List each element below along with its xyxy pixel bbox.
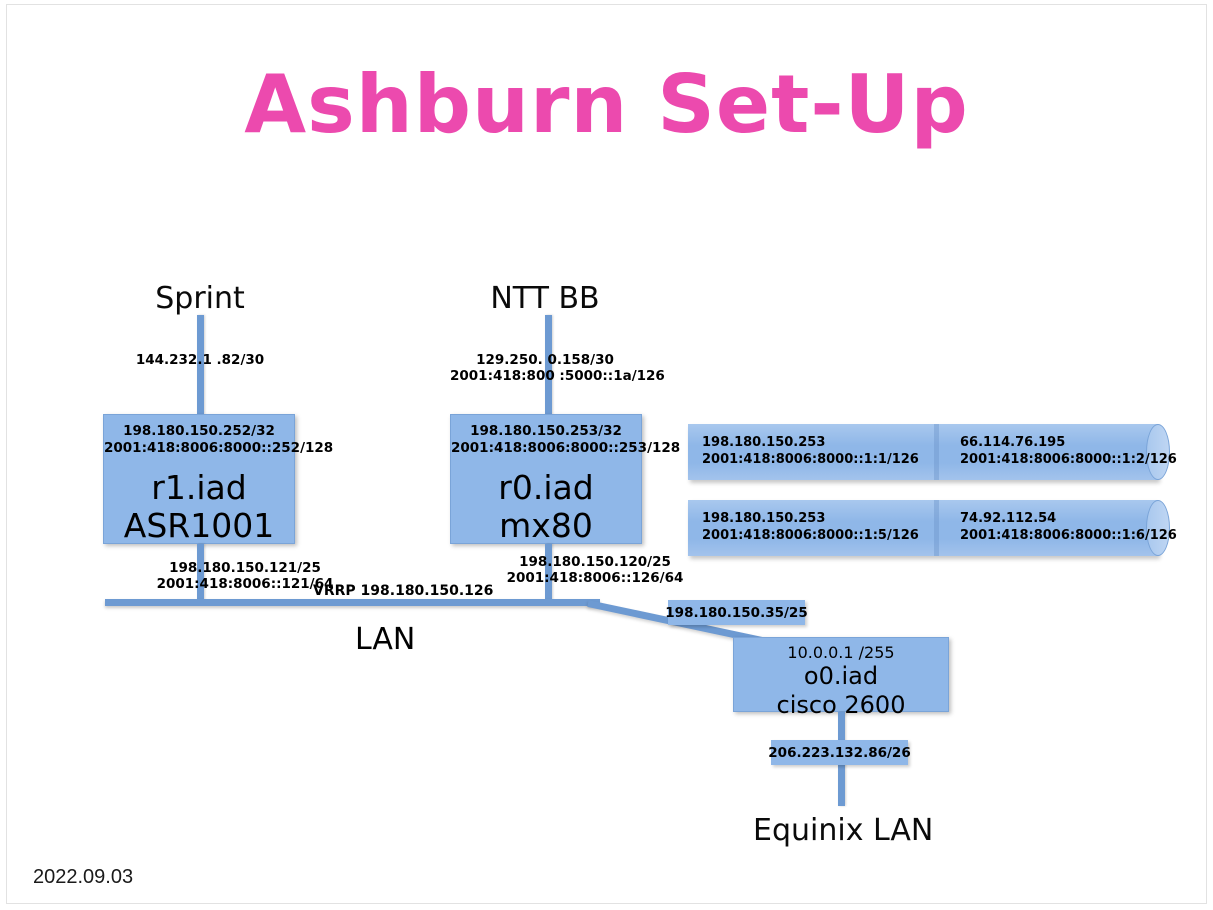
r0-loopback-v4: 198.180.150.253/32 [451,423,641,440]
upstream-label-sprint: Sprint [105,281,295,316]
peering-2-remote-v6: 2001:418:8006:8000::1:6/126 [960,527,1177,544]
upstream-label-ntt: NTT BB [450,281,640,316]
lan-bus [105,599,600,606]
peering-link-1[interactable]: 198.180.150.253 2001:418:8006:8000::1:1/… [688,424,1158,480]
ip-label-ntt-v6: 2001:418:800 :5000::1a/126 [450,368,640,384]
r1-loopback-v6: 2001:418:8006:8000::252/128 [104,440,294,457]
peering-1-local-v4: 198.180.150.253 [702,434,919,451]
peering-2-local-v4: 198.180.150.253 [702,510,919,527]
peering-link-1-divider [934,424,939,480]
lan-label: LAN [355,622,415,657]
router-node-o0-iad[interactable]: 10.0.0.1 /255 o0.iad cisco 2600 [733,637,949,712]
ip-label-sprint-v4: 144.232.1 .82/30 [105,352,295,368]
ip-label-ntt-v4: 129.250. 0.158/30 [450,352,640,368]
peering-link-2[interactable]: 198.180.150.253 2001:418:8006:8000::1:5/… [688,500,1158,556]
peering-1-local-v6: 2001:418:8006:8000::1:1/126 [702,451,919,468]
r0-loopback-v6: 2001:418:8006:8000::253/128 [451,440,641,457]
peering-1-remote-v6: 2001:418:8006:8000::1:2/126 [960,451,1177,468]
slide-canvas: Ashburn Set-Up Sprint 144.232.1 .82/30 N… [0,0,1213,910]
page-title: Ashburn Set-Up [0,58,1213,151]
peering-2-remote-v4: 74.92.112.54 [960,510,1177,527]
o0-hostname: o0.iad [734,662,948,691]
r0-lan-v6: 2001:418:8006::126/64 [450,570,740,586]
router-node-r1-iad[interactable]: 198.180.150.252/32 2001:418:8006:8000::2… [103,414,295,544]
equinix-lan-label: Equinix LAN [753,813,933,848]
peering-2-local-v6: 2001:418:8006:8000::1:5/126 [702,527,919,544]
r1-model: ASR1001 [104,507,294,545]
vrrp-label: VRRP 198.180.150.126 [313,583,493,599]
datestamp: 2022.09.03 [33,866,133,889]
peering-1-remote-v4: 66.114.76.195 [960,434,1177,451]
peering-link-2-divider [934,500,939,556]
uplink-ip-tag: 198.180.150.35/25 [668,600,805,625]
router-node-r0-iad[interactable]: 198.180.150.253/32 2001:418:8006:8000::2… [450,414,642,544]
downlink-ip-tag: 206.223.132.86/26 [771,740,908,765]
r0-model: mx80 [451,507,641,545]
r0-lan-v4: 198.180.150.120/25 [450,554,740,570]
r1-lan-v4: 198.180.150.121/25 [100,560,390,576]
r0-hostname: r0.iad [451,469,641,507]
o0-ip: 10.0.0.1 /255 [734,643,948,662]
r1-loopback-v4: 198.180.150.252/32 [104,423,294,440]
r1-hostname: r1.iad [104,469,294,507]
